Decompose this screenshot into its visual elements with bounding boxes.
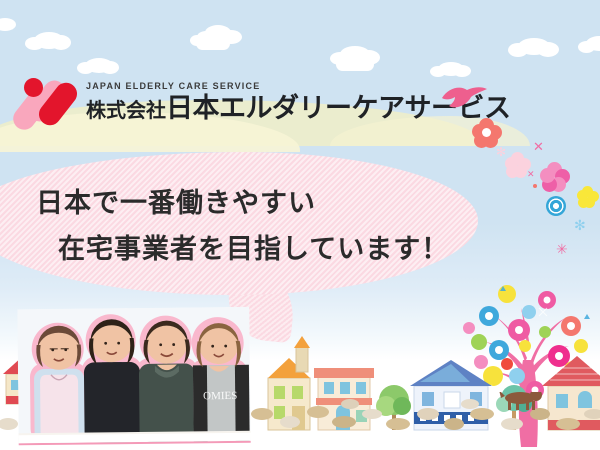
cloud-icon bbox=[85, 58, 113, 73]
staff-photo-image: OMIES bbox=[17, 307, 250, 443]
snowflake-icon: ✻ bbox=[574, 218, 586, 232]
company-english-name: JAPAN ELDERLY CARE SERVICE bbox=[86, 81, 260, 91]
cloud-icon bbox=[586, 36, 600, 51]
sparkle-icon: ✕ bbox=[533, 140, 544, 153]
cloud-icon bbox=[438, 62, 464, 76]
walking-dog-icon bbox=[499, 392, 542, 410]
company-legal-prefix: 株式会社 bbox=[86, 100, 166, 122]
photo-bottom-strip bbox=[19, 433, 251, 443]
flying-bird-icon bbox=[440, 85, 488, 111]
cloud-icon bbox=[336, 58, 374, 71]
plum-blossom-icon bbox=[472, 118, 502, 148]
burst-blue-icon bbox=[546, 196, 566, 216]
svg-text:OMIES: OMIES bbox=[203, 390, 237, 402]
staff-3 bbox=[138, 320, 195, 442]
sparkle-icon: ✳ bbox=[556, 242, 568, 256]
company-logo-icon bbox=[14, 72, 86, 130]
flower-yellow-icon bbox=[577, 186, 599, 208]
headline-message: 日本で一番働きやすい 在宅事業者を目指しています！ bbox=[36, 180, 456, 272]
recruitment-banner: JAPAN ELDERLY CARE SERVICE 株式会社日本エルダリーケア… bbox=[0, 0, 600, 450]
sakura-hot-icon bbox=[540, 162, 570, 192]
staff-photo: OMIES bbox=[17, 307, 250, 445]
cloud-icon bbox=[34, 32, 64, 49]
headline-line-2: 在宅事業者を目指しています！ bbox=[36, 226, 456, 272]
sparkle-icon: ✕ bbox=[527, 170, 535, 179]
staff-2 bbox=[83, 319, 140, 443]
headline-line-1: 日本で一番働きやすい bbox=[36, 180, 456, 226]
staff-1 bbox=[33, 326, 84, 444]
cloud-icon bbox=[196, 37, 230, 50]
dot-icon bbox=[533, 184, 537, 188]
cloud-icon bbox=[518, 38, 550, 55]
snowflake-icon: ✻ bbox=[496, 146, 506, 158]
